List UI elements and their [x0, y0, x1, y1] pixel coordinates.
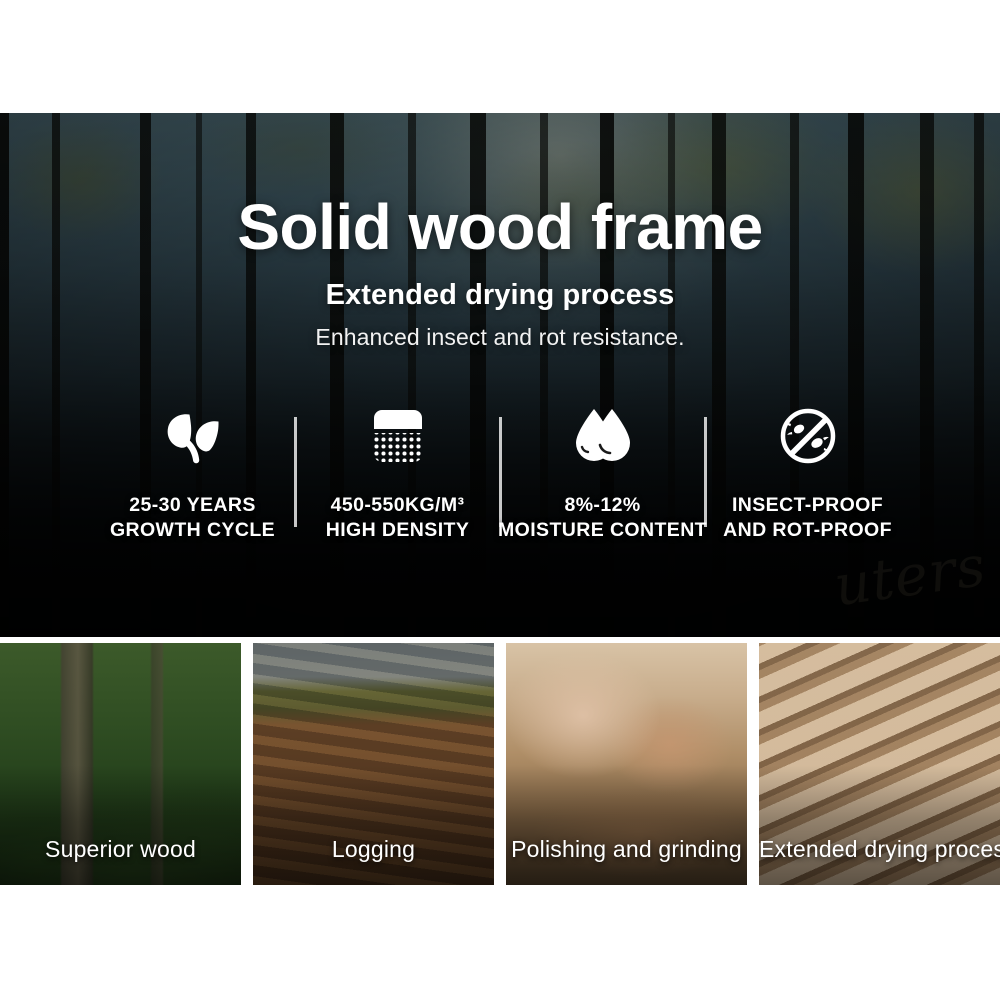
- hero-content: Solid wood frame Extended drying process…: [0, 113, 1000, 637]
- feature-moisture-content-text: 8%-12% MOISTURE CONTENT: [498, 493, 707, 543]
- insect-proof-icon: [779, 403, 837, 469]
- photo-tile-logging[interactable]: Logging: [253, 643, 494, 885]
- feature-high-density-text: 450-550KG/M³ HIGH DENSITY: [326, 493, 469, 543]
- hero-title: Solid wood frame: [237, 195, 762, 259]
- feature-growth-cycle: 25-30 YEARS GROWTH CYCLE: [92, 403, 294, 543]
- photo-caption: Extended drying process: [759, 836, 1000, 863]
- feature-row: 25-30 YEARS GROWTH CYCLE: [0, 403, 1000, 543]
- product-feature-banner: uters Solid wood frame Extended drying p…: [0, 0, 1000, 1000]
- feature-high-density: 450-550KG/M³ HIGH DENSITY: [297, 403, 499, 543]
- feature-insect-rot-proof: INSECT-PROOF AND ROT-PROOF: [707, 403, 909, 543]
- feature-line-1: 8%-12%: [498, 493, 707, 518]
- hero-banner: uters Solid wood frame Extended drying p…: [0, 113, 1000, 637]
- photo-caption: Superior wood: [0, 836, 241, 863]
- tile-caption-scrim: [0, 765, 241, 885]
- feature-line-1: INSECT-PROOF: [723, 493, 892, 518]
- tile-caption-scrim: [506, 765, 747, 885]
- water-drop-icon: [570, 403, 636, 469]
- feature-growth-cycle-text: 25-30 YEARS GROWTH CYCLE: [110, 493, 275, 543]
- leaf-icon: [162, 403, 224, 469]
- tile-caption-scrim: [759, 765, 1000, 885]
- hero-description: Enhanced insect and rot resistance.: [315, 324, 684, 351]
- feature-line-2: MOISTURE CONTENT: [498, 518, 707, 543]
- feature-insect-rot-proof-text: INSECT-PROOF AND ROT-PROOF: [723, 493, 892, 543]
- feature-line-2: AND ROT-PROOF: [723, 518, 892, 543]
- photo-tile-extended-drying[interactable]: Extended drying process: [759, 643, 1000, 885]
- feature-line-2: GROWTH CYCLE: [110, 518, 275, 543]
- photo-caption: Logging: [253, 836, 494, 863]
- hero-subtitle: Extended drying process: [326, 279, 675, 312]
- feature-line-1: 450-550KG/M³: [326, 493, 469, 518]
- photo-strip: Superior wood Logging Polishing and grin…: [0, 643, 1000, 885]
- density-icon: [366, 403, 430, 469]
- photo-tile-polishing-grinding[interactable]: Polishing and grinding: [506, 643, 747, 885]
- feature-line-1: 25-30 YEARS: [110, 493, 275, 518]
- photo-caption: Polishing and grinding: [506, 836, 747, 863]
- photo-tile-superior-wood[interactable]: Superior wood: [0, 643, 241, 885]
- tile-caption-scrim: [253, 765, 494, 885]
- feature-line-2: HIGH DENSITY: [326, 518, 469, 543]
- feature-moisture-content: 8%-12% MOISTURE CONTENT: [502, 403, 704, 543]
